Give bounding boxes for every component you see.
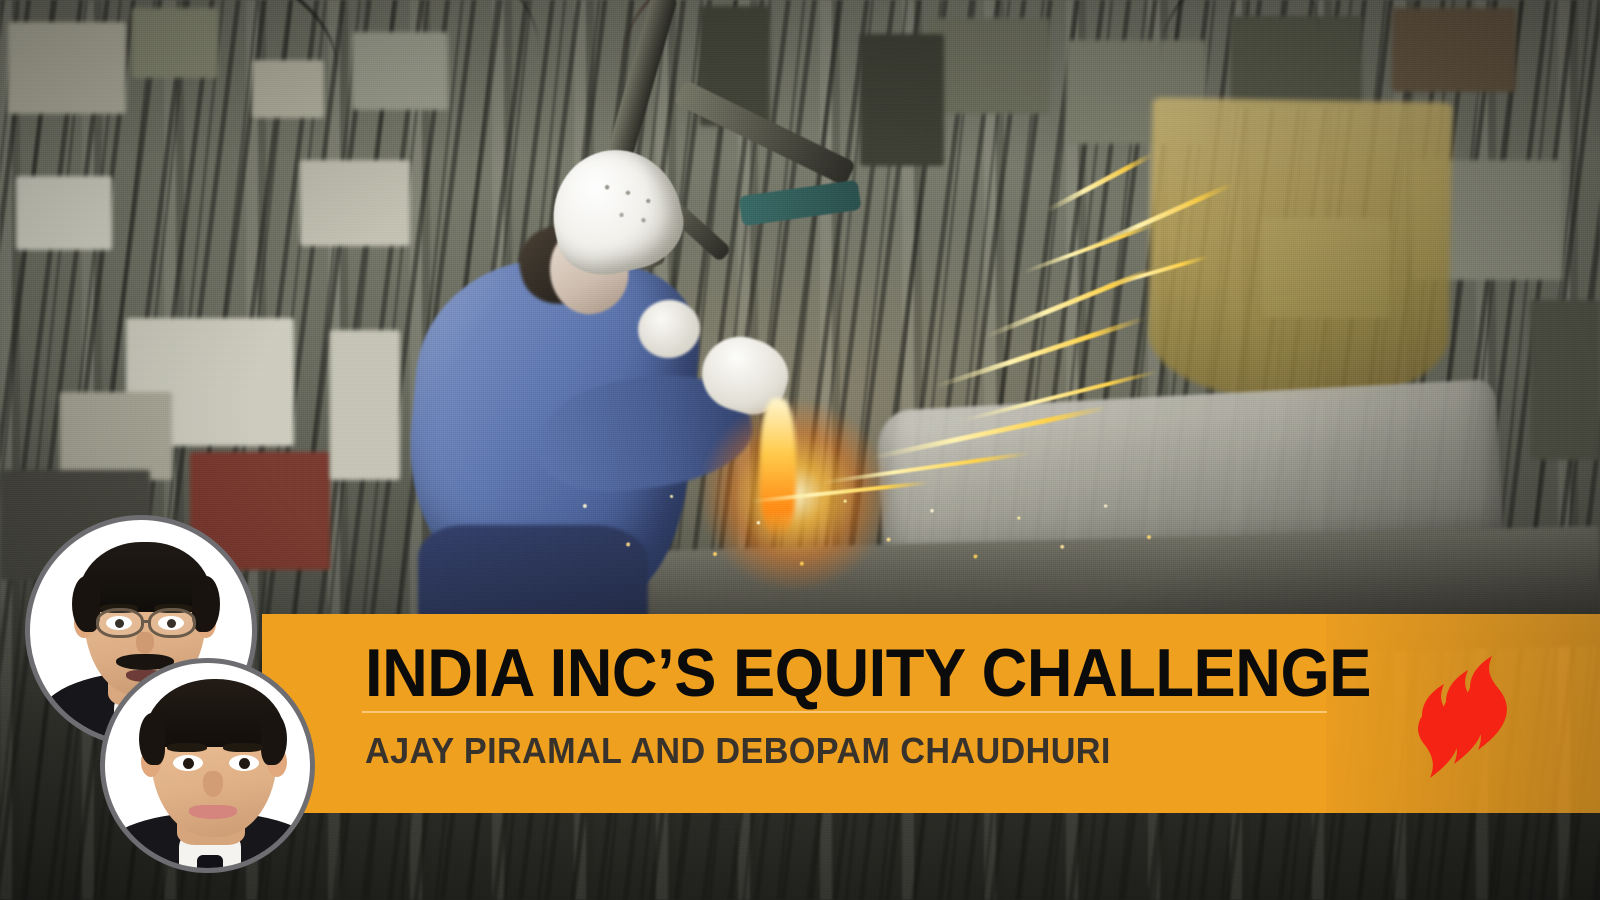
banner-divider [362, 711, 1327, 713]
glasses-icon [96, 608, 144, 638]
hero-image: INDIA INC’S EQUITY CHALLENGE AJAY PIRAMA… [0, 0, 1600, 900]
headline-banner: INDIA INC’S EQUITY CHALLENGE AJAY PIRAMA… [262, 614, 1600, 813]
indian-express-flame-logo[interactable] [1414, 636, 1532, 791]
headline-text: INDIA INC’S EQUITY CHALLENGE [365, 636, 1371, 710]
avatar-portrait-debopam-chaudhuri [105, 663, 310, 868]
byline-text: AJAY PIRAMAL AND DEBOPAM CHAUDHURI [365, 729, 1111, 773]
author-avatar-debopam-chaudhuri[interactable] [100, 658, 315, 873]
